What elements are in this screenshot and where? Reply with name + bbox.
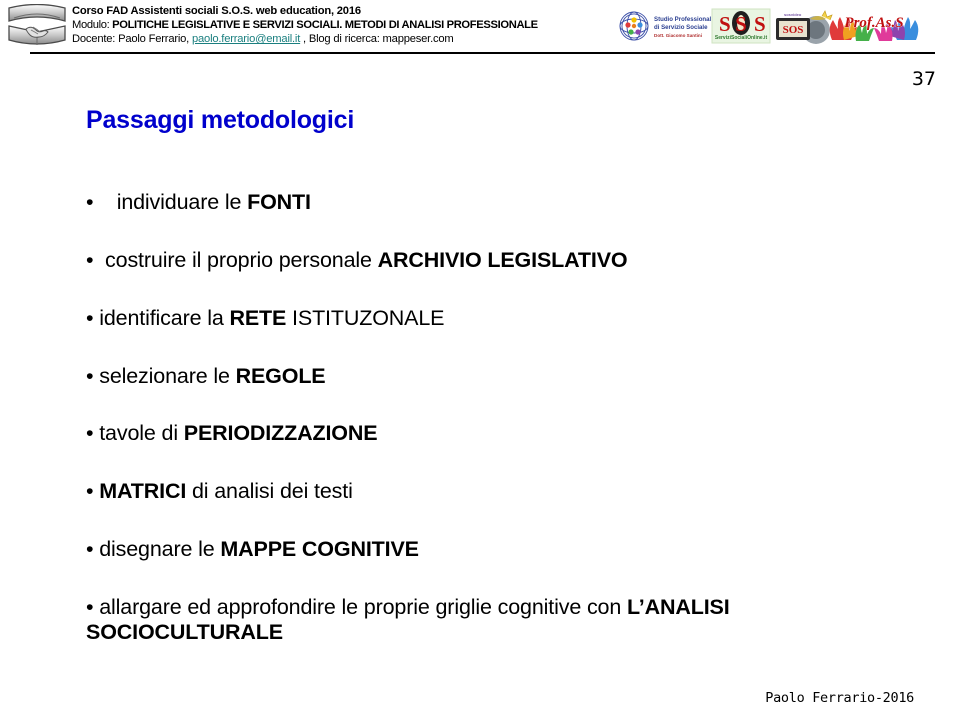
bullet-gap — [93, 248, 105, 272]
bullet-emphasis: REGOLE — [236, 364, 326, 388]
partner-logo-strip: Studio Professionale di Servizio Sociale… — [612, 6, 952, 48]
header-divider — [30, 52, 935, 54]
bullet-emphasis: MATRICI — [99, 479, 186, 503]
bullet-list: • individuare le FONTI• costruire il pro… — [86, 190, 886, 646]
svg-text:Dott. Giacomo Santini: Dott. Giacomo Santini — [654, 33, 702, 38]
header-teacher-line: Docente: Paolo Ferrario, paolo.ferrario@… — [72, 33, 617, 47]
page-title: Passaggi metodologici — [86, 106, 354, 135]
bullet-item: • tavole di PERIODIZZAZIONE — [86, 421, 886, 446]
svg-text:Prof.As.S: Prof.As.S — [844, 15, 903, 31]
bullet-item: • individuare le FONTI — [86, 190, 886, 215]
slide-header: Corso FAD Assistenti sociali S.O.S. web … — [0, 0, 960, 52]
studio-professionale-servizio-sociale-logo: Studio Professionale di Servizio Sociale… — [612, 6, 712, 46]
bullet-item: • costruire il proprio personale ARCHIVI… — [86, 248, 886, 273]
svg-text:S: S — [754, 12, 766, 36]
bullet-emphasis: MAPPE COGNITIVE — [220, 537, 418, 561]
bullet-item: • identificare la RETE ISTITUZONALE — [86, 306, 886, 331]
email-link[interactable]: paolo.ferrario@email.it — [192, 33, 300, 45]
bullet-text: disegnare le — [99, 537, 220, 561]
bullet-emphasis: ARCHIVIO LEGISLATIVO — [378, 248, 628, 272]
svg-text:Studio Professionale: Studio Professionale — [654, 16, 712, 23]
bullet-emphasis: RETE — [229, 306, 286, 330]
bullet-text: allargare ed approfondire le proprie gri… — [99, 595, 627, 619]
header-module-line: Modulo: POLITICHE LEGISLATIVE E SERVIZI … — [72, 19, 617, 33]
bullet-text: costruire il proprio personale — [105, 248, 378, 272]
bullet-item: • allargare ed approfondire le proprie g… — [86, 595, 886, 646]
bullet-emphasis: PERIODIZZAZIONE — [184, 421, 378, 445]
slide-canvas: Corso FAD Assistenti sociali S.O.S. web … — [0, 0, 960, 720]
svg-text:di Servizio Sociale: di Servizio Sociale — [654, 24, 708, 31]
svg-text:S: S — [735, 12, 747, 36]
bullet-text: selezionare le — [99, 364, 235, 388]
header-blog-text: , Blog di ricerca: mappeser.com — [300, 33, 453, 45]
header-course-line: Corso FAD Assistenti sociali S.O.S. web … — [72, 5, 617, 19]
bullet-text: di analisi dei testi — [186, 479, 353, 503]
handshake-book-logo — [6, 4, 68, 48]
profass-logo: Prof.As.S — [824, 6, 924, 46]
bullet-text: identificare la — [99, 306, 229, 330]
sos-servizi-sociali-online-logo: S S S ServiziSocialiOnline.it — [710, 6, 772, 46]
bullet-text: individuare le — [117, 190, 247, 214]
bullet-text: ISTITUZONALE — [286, 306, 444, 330]
header-module-prefix: Modulo: — [72, 19, 112, 31]
header-module-title: POLITICHE LEGISLATIVE E SERVIZI SOCIALI.… — [112, 19, 538, 31]
footer-credit: Paolo Ferrario-2016 — [765, 690, 914, 706]
svg-text:ServiziSocialiOnline.it: ServiziSocialiOnline.it — [715, 35, 768, 41]
svg-text:sosvideo: sosvideo — [784, 12, 802, 17]
bullet-text: tavole di — [99, 421, 184, 445]
header-text-block: Corso FAD Assistenti sociali S.O.S. web … — [72, 5, 617, 47]
page-number: 37 — [912, 68, 936, 90]
bullet-item: • MATRICI di analisi dei testi — [86, 479, 886, 504]
svg-text:SOS: SOS — [783, 24, 804, 36]
bullet-item: • disegnare le MAPPE COGNITIVE — [86, 537, 886, 562]
header-teacher-prefix: Docente: Paolo Ferrario, — [72, 33, 192, 45]
bullet-gap — [93, 190, 116, 214]
svg-text:S: S — [719, 12, 731, 36]
bullet-item: • selezionare le REGOLE — [86, 364, 886, 389]
bullet-emphasis: FONTI — [247, 190, 311, 214]
